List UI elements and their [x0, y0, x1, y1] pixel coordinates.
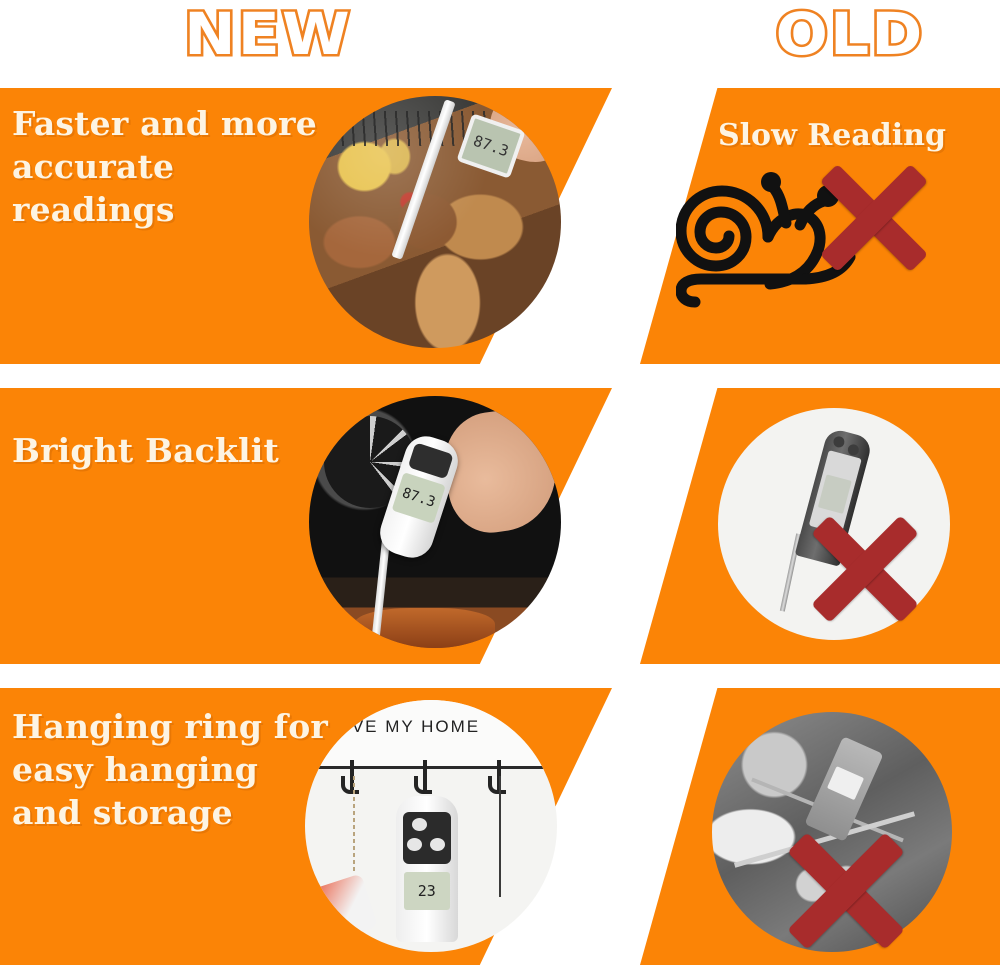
caliper-display	[827, 766, 864, 800]
old-caption-row1: Slow Reading	[718, 118, 998, 153]
rack-text: LOVE MY HOME	[325, 717, 480, 737]
button	[430, 838, 445, 851]
hanging-rack-photo: LOVE MY HOME 23	[305, 700, 557, 952]
backlit-thermometer-photo: 87.3	[309, 396, 561, 648]
button	[832, 435, 845, 448]
new-caption-row2: Bright Backlit	[12, 430, 342, 473]
infographic-canvas: NEW OLD Faster and more accurate reading…	[0, 0, 1000, 972]
column-header-old: OLD	[691, 0, 1000, 70]
column-header-new: NEW	[109, 0, 427, 70]
red-x-mark-row2	[858, 512, 998, 652]
red-x-mark-row1	[868, 160, 1000, 300]
hook	[423, 760, 427, 794]
button	[407, 838, 422, 851]
button	[412, 818, 427, 831]
button-pad	[403, 812, 451, 864]
red-x-mark-row3	[840, 830, 990, 980]
wall-rack-board: LOVE MY HOME	[305, 700, 557, 769]
hanging-chain	[353, 776, 355, 872]
new-caption-row3: Hanging ring for easy hanging and storag…	[12, 706, 352, 835]
thermometer-display: 23	[404, 872, 450, 910]
button-pad	[408, 443, 454, 480]
old-display	[818, 475, 852, 515]
hanging-wire	[499, 776, 501, 897]
new-caption-row1: Faster and more accurate readings	[12, 103, 342, 232]
thermometer-display: 87.3	[392, 472, 446, 524]
grilled-food-photo: 87.3	[309, 96, 561, 348]
hanging-thermometer: 23	[396, 796, 458, 942]
